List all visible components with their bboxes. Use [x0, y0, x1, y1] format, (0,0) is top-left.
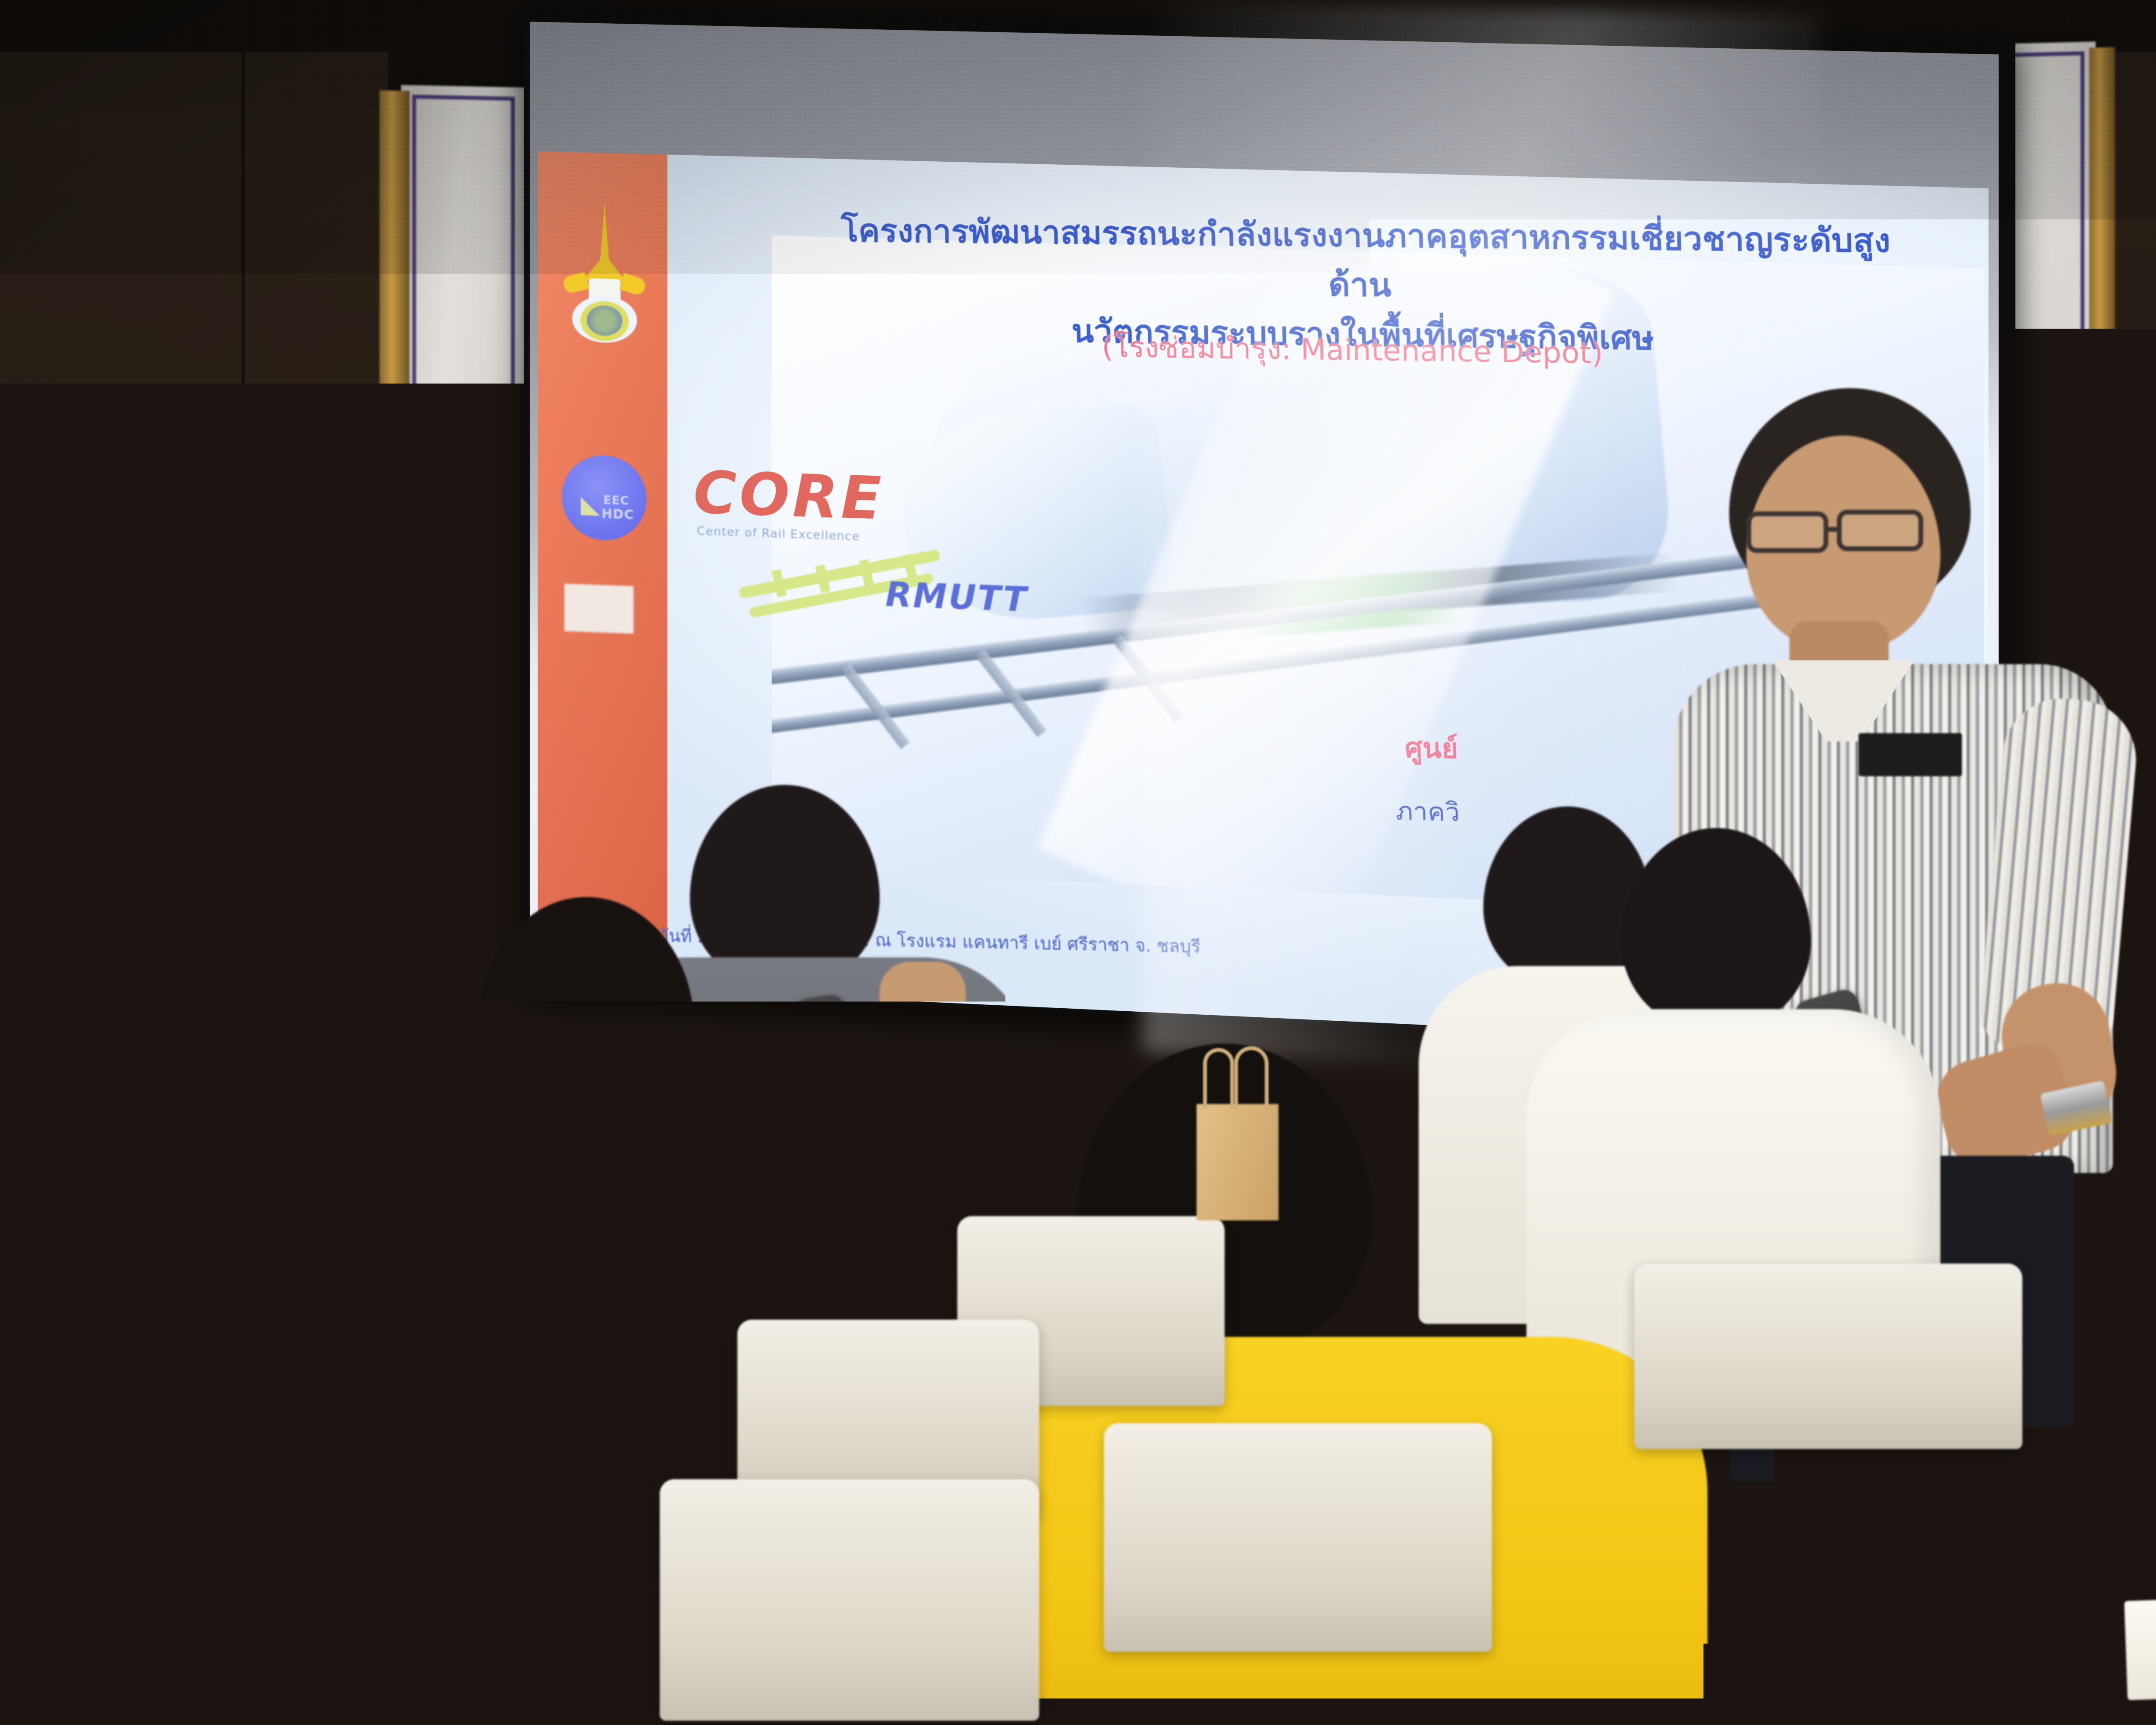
- eec-badge-line-2: HDC: [602, 506, 634, 523]
- slide-title-line-1: โครงการพัฒนาสมรรถนะกำลังแรงงานภาคอุตสาหก…: [814, 206, 1920, 317]
- wall-seam-1: [241, 52, 245, 1302]
- roll-up-banner-left: [401, 85, 526, 847]
- head: [216, 1156, 483, 1449]
- gift-bag-handle-1: [1203, 1048, 1234, 1108]
- seal-wing-right: [619, 273, 647, 297]
- eec-badge-triangle: [581, 497, 600, 516]
- banner-left-frame: [412, 95, 515, 837]
- white-paper-sheet: [2124, 1590, 2156, 1700]
- glasses-icon: [1746, 509, 1932, 556]
- head: [0, 832, 60, 962]
- head: [1621, 828, 1811, 1031]
- torso: [155, 1423, 578, 1725]
- seal-spire: [600, 203, 609, 260]
- chair-5: [1104, 1423, 1492, 1652]
- kraft-paper-gift-bag: [1197, 1104, 1279, 1220]
- gift-bag-handle-2: [1234, 1046, 1269, 1109]
- core-org-label: RMUTT: [885, 575, 1028, 620]
- core-wordmark: CORE: [693, 458, 884, 533]
- photo-stage: EEC HDC: [0, 0, 2156, 1725]
- eec-badge-line-1: EEC: [603, 493, 629, 508]
- rmutt-seal-icon: [560, 201, 649, 347]
- core-logo: CORE Center of Rail Excellence RMUTT: [693, 458, 1000, 626]
- presenter-name-badge: [1858, 733, 1962, 776]
- chair-8: [871, 1673, 1475, 1725]
- audience-person-foreground-dark-2: [164, 1156, 552, 1725]
- slide-band-white-box: [564, 583, 633, 634]
- seal-wing-left: [562, 272, 590, 295]
- head: [479, 897, 694, 1130]
- seal-bell: [583, 253, 625, 281]
- banner-left-pole: [379, 90, 410, 841]
